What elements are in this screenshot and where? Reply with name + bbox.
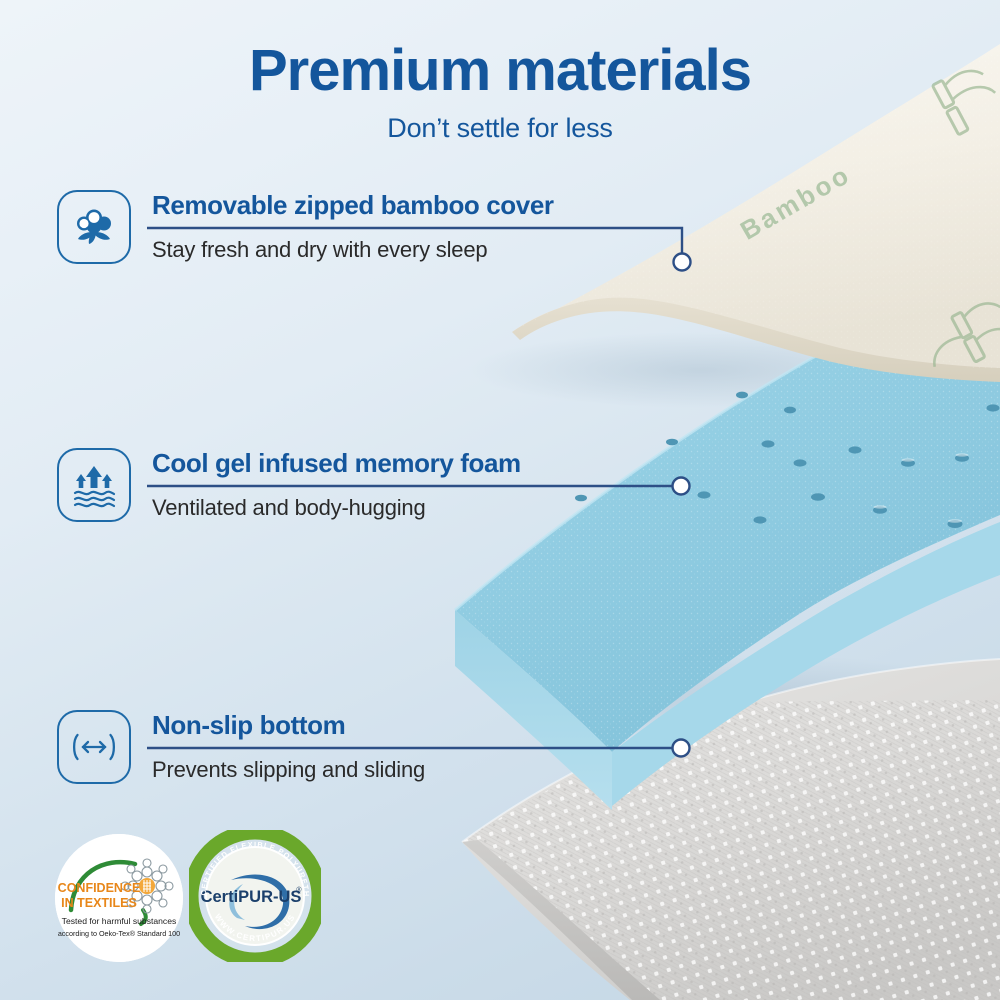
airflow-waves-icon-box	[57, 448, 131, 522]
cotton-boll-icon	[71, 204, 117, 250]
oeko-line1: CONFIDENCE	[58, 881, 141, 895]
feature-description: Ventilated and body-hugging	[152, 495, 426, 521]
page-title: Premium materials	[0, 0, 1000, 103]
certipur-us-badge-art: CertiPUR-US ® CONTAINS CERTIFIED FLEXIBL…	[189, 830, 321, 962]
oeko-tex-badge-art: CONFIDENCE IN TEXTILES Tested for harmfu…	[55, 834, 183, 962]
oeko-line4: according to Oeko-Tex® Standard 100	[58, 929, 180, 938]
page-subtitle: Don’t settle for less	[0, 103, 1000, 144]
feature-description: Prevents slipping and sliding	[152, 757, 425, 783]
oeko-line3: Tested for harmful substances	[62, 916, 177, 926]
certification-badges: CONFIDENCE IN TEXTILES Tested for harmfu…	[55, 830, 321, 962]
oeko-tex-badge: CONFIDENCE IN TEXTILES Tested for harmfu…	[55, 834, 183, 962]
feature-description: Stay fresh and dry with every sleep	[152, 237, 487, 263]
header: Premium materials Don’t settle for less	[0, 0, 1000, 144]
oeko-line2: IN TEXTILES	[61, 896, 137, 910]
horizontal-arrow-grip-icon	[70, 723, 118, 771]
feature-title: Cool gel infused memory foam	[152, 448, 521, 479]
horizontal-arrow-grip-icon-box	[57, 710, 131, 784]
feature-title: Non-slip bottom	[152, 710, 345, 741]
feature-title: Removable zipped bamboo cover	[152, 190, 554, 221]
infographic-canvas: Bamboo Premium materials	[0, 0, 1000, 1000]
airflow-waves-icon	[71, 462, 117, 508]
certipur-us-badge: CertiPUR-US ® CONTAINS CERTIFIED FLEXIBL…	[189, 830, 321, 962]
cotton-boll-icon-box	[57, 190, 131, 264]
certipur-wordmark: CertiPUR-US	[201, 888, 302, 906]
